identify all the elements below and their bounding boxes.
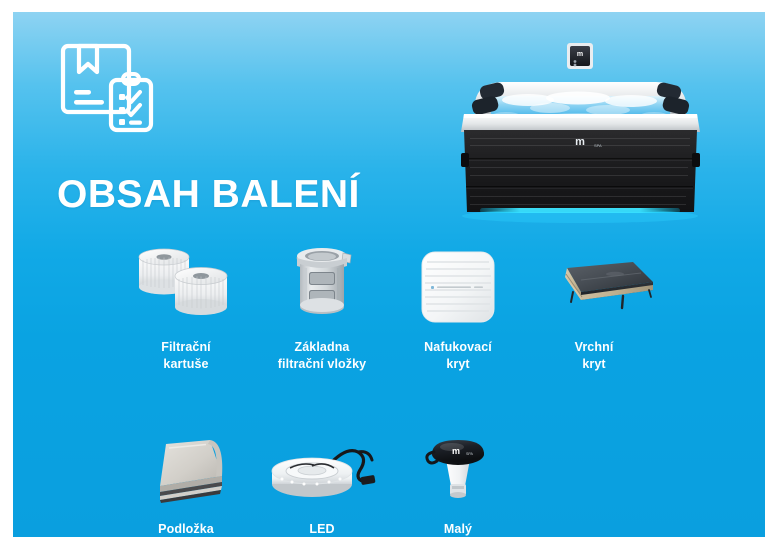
item-filter-cartridges: Filtrační kartuše [118, 240, 254, 373]
svg-text:SPA: SPA [594, 143, 602, 148]
item-caption: Nafukovací kryt [424, 339, 492, 373]
item-led-lighting: LED osvětlení [254, 422, 390, 537]
filter-cartridge-icon [121, 240, 251, 328]
top-cover-icon [529, 240, 659, 328]
contents-grid: Filtrační kartuše [118, 240, 698, 537]
page-title: OBSAH BALENÍ [57, 172, 360, 218]
item-caption: Malý plovák [438, 521, 478, 537]
svg-text:m: m [452, 446, 460, 456]
infographic-page: OBSAH BALENÍ [0, 0, 779, 556]
contents-row-2: Podložka [118, 422, 698, 537]
contents-row-1: Filtrační kartuše [118, 240, 698, 373]
item-inflatable-cover: Nafukovací kryt [390, 240, 526, 373]
item-caption: Podložka [158, 521, 214, 537]
brand-mark: m [575, 136, 585, 148]
item-caption: Vrchní kryt [575, 339, 614, 373]
item-top-cover: Vrchní kryt [526, 240, 662, 373]
svg-text:SPA: SPA [466, 452, 474, 456]
ground-mat-icon [121, 422, 251, 510]
header-block [57, 40, 397, 136]
led-strip-icon [257, 422, 387, 510]
item-ground-mat: Podložka [118, 422, 254, 537]
chlorine-float-icon: m SPA [393, 422, 523, 510]
svg-text:m: m [577, 51, 583, 58]
item-caption: LED osvětlení [294, 521, 349, 537]
item-caption: Základna filtrační vložky [278, 339, 366, 373]
item-filter-base: Základna filtrační vložky [254, 240, 390, 373]
hot-tub-image: m [428, 40, 733, 230]
package-checklist-icon [57, 40, 397, 136]
content-panel: OBSAH BALENÍ [13, 12, 765, 537]
grid-spacer [526, 422, 662, 537]
inflatable-cover-icon [393, 240, 523, 328]
filter-base-icon [257, 240, 387, 328]
item-caption: Filtrační kartuše [161, 339, 211, 373]
item-small-float: m SPA Malý plovák [390, 422, 526, 537]
